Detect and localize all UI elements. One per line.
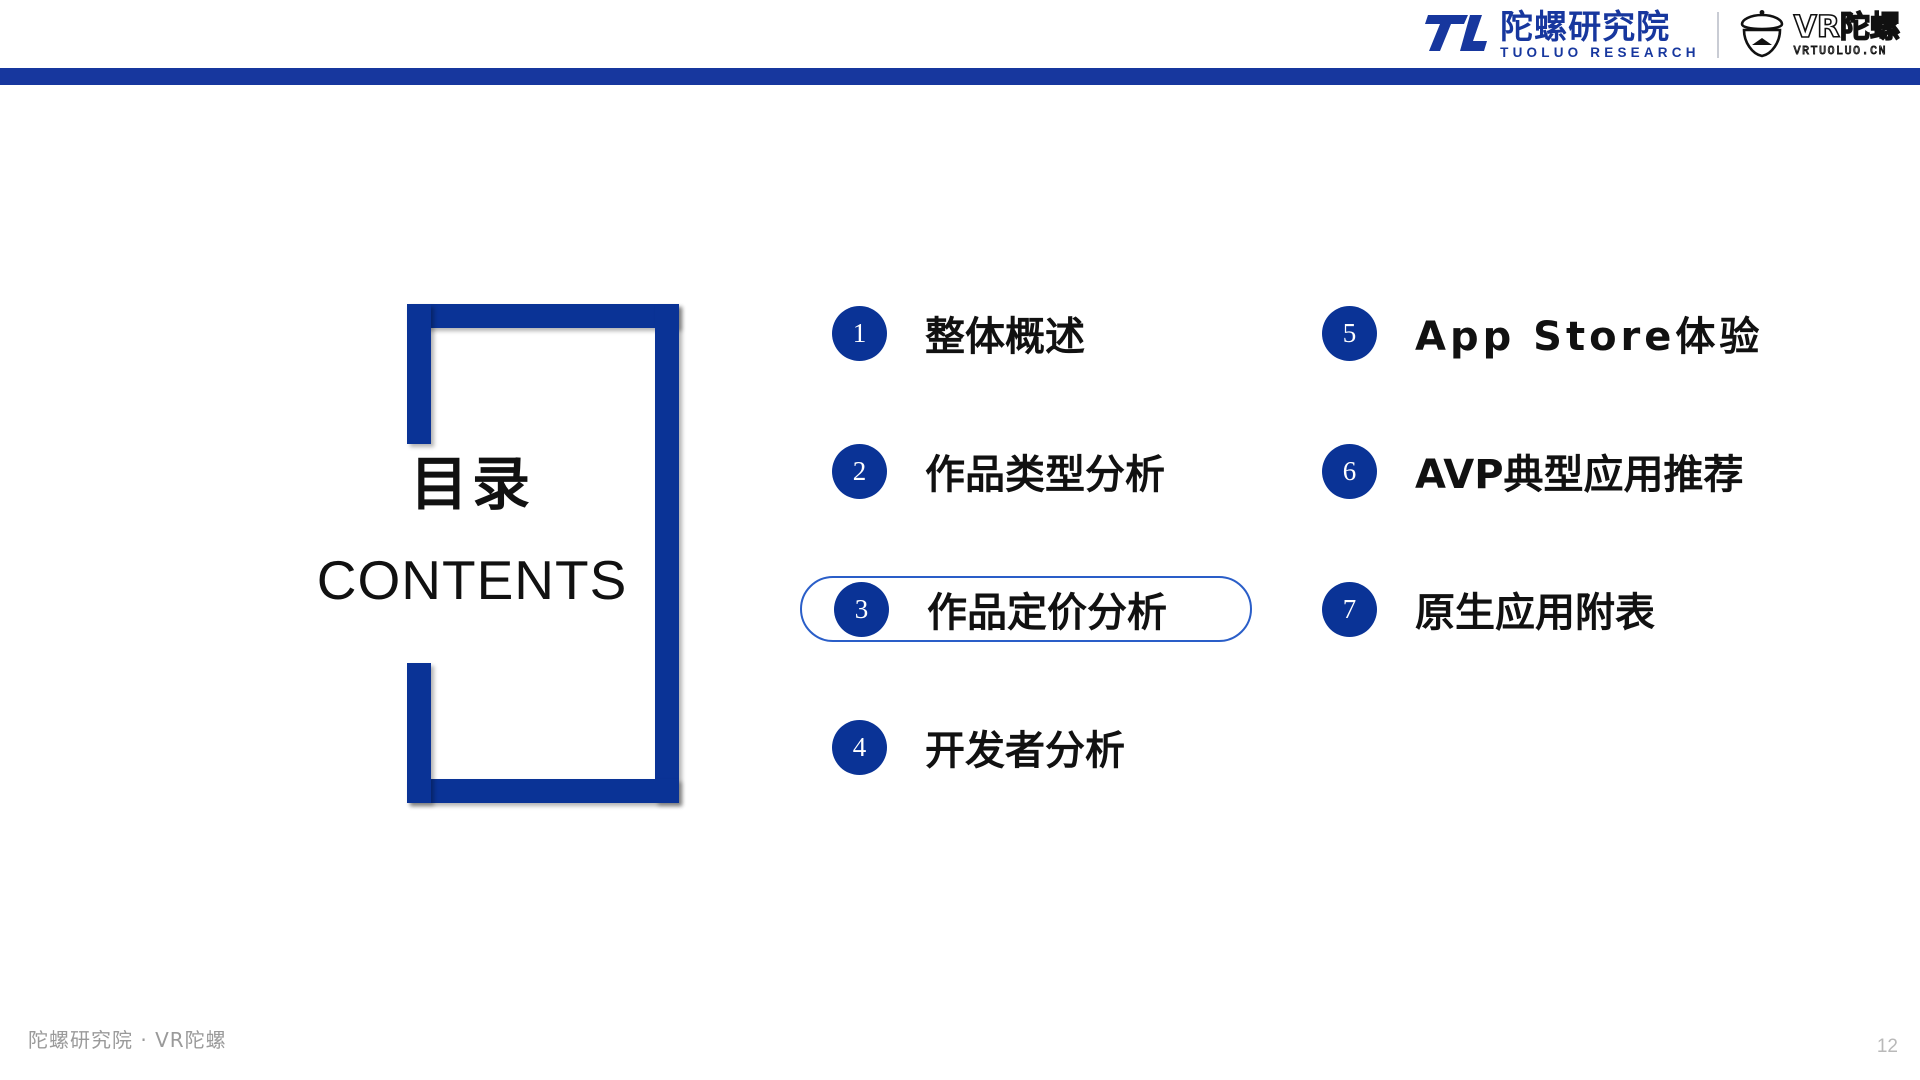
page-number: 12 [1877, 1036, 1898, 1058]
bracket-top-segment [407, 304, 679, 328]
toc-item-label: 作品定价分析 [927, 580, 1167, 638]
tl-monogram-icon [1424, 11, 1488, 60]
tuoluo-name-cn: 陀螺研究院 [1500, 10, 1700, 44]
toc-item-label: AVP典型应用推荐 [1415, 442, 1744, 500]
toc-column-right: 5 App Store体验 6 AVP典型应用推荐 7 原生应用附表 [1290, 300, 1763, 714]
bracket-left-bottom-segment [407, 663, 431, 803]
toc-item-label: 作品类型分析 [925, 442, 1165, 500]
slide-header: 陀螺研究院 TUOLUO RESEARCH VR陀螺 VRTUOLUO.C [0, 0, 1920, 104]
toc-number-badge: 1 [832, 306, 887, 361]
toc-number-badge: 5 [1322, 306, 1377, 361]
footer-credit: 陀螺研究院 · VR陀螺 [28, 1024, 227, 1053]
bracket-bottom-segment [407, 779, 679, 803]
vr-name-en: VRTUOLUO.CN [1794, 45, 1900, 58]
toc-item-label: 开发者分析 [925, 718, 1125, 776]
toc-number-badge: 6 [1322, 444, 1377, 499]
toc-column-left: 1 整体概述 2 作品类型分析 3 作品定价分析 4 开发者分析 [800, 300, 1252, 852]
page-title-block: 目录 CONTENTS [262, 455, 682, 608]
toc-item-7[interactable]: 7 原生应用附表 [1290, 576, 1763, 642]
toc-item-6[interactable]: 6 AVP典型应用推荐 [1290, 438, 1763, 504]
toc-item-5[interactable]: 5 App Store体验 [1290, 300, 1763, 366]
toc-item-label: App Store体验 [1415, 304, 1763, 362]
tuoluo-research-logo: 陀螺研究院 TUOLUO RESEARCH [1424, 10, 1700, 61]
acorn-icon [1736, 7, 1788, 64]
toc-number-badge: 3 [834, 582, 889, 637]
slide-canvas: 陀螺研究院 TUOLUO RESEARCH VR陀螺 VRTUOLUO.C [0, 0, 1920, 1080]
bracket-left-top-segment [407, 304, 431, 444]
toc-item-label: 整体概述 [925, 304, 1085, 362]
page-title-en: CONTENTS [262, 553, 682, 608]
tuoluo-wordmark: 陀螺研究院 TUOLUO RESEARCH [1500, 10, 1700, 61]
logo-divider [1717, 12, 1719, 58]
vr-name-cn: VR陀螺 [1794, 12, 1900, 43]
vr-tuoluo-logo: VR陀螺 VRTUOLUO.CN [1736, 7, 1900, 64]
toc-item-3-active[interactable]: 3 作品定价分析 [800, 576, 1252, 642]
toc-number-badge: 4 [832, 720, 887, 775]
tuoluo-name-en: TUOLUO RESEARCH [1500, 45, 1700, 60]
toc-number-badge: 2 [832, 444, 887, 499]
toc-number-badge: 7 [1322, 582, 1377, 637]
toc-item-4[interactable]: 4 开发者分析 [800, 714, 1252, 780]
header-accent-bar [0, 68, 1920, 85]
toc-item-label: 原生应用附表 [1415, 580, 1655, 638]
page-title-cn: 目录 [262, 455, 682, 513]
toc-item-2[interactable]: 2 作品类型分析 [800, 438, 1252, 504]
vr-wordmark: VR陀螺 VRTUOLUO.CN [1794, 12, 1900, 58]
logo-lockup: 陀螺研究院 TUOLUO RESEARCH VR陀螺 VRTUOLUO.C [1424, 4, 1900, 66]
toc-item-1[interactable]: 1 整体概述 [800, 300, 1252, 366]
